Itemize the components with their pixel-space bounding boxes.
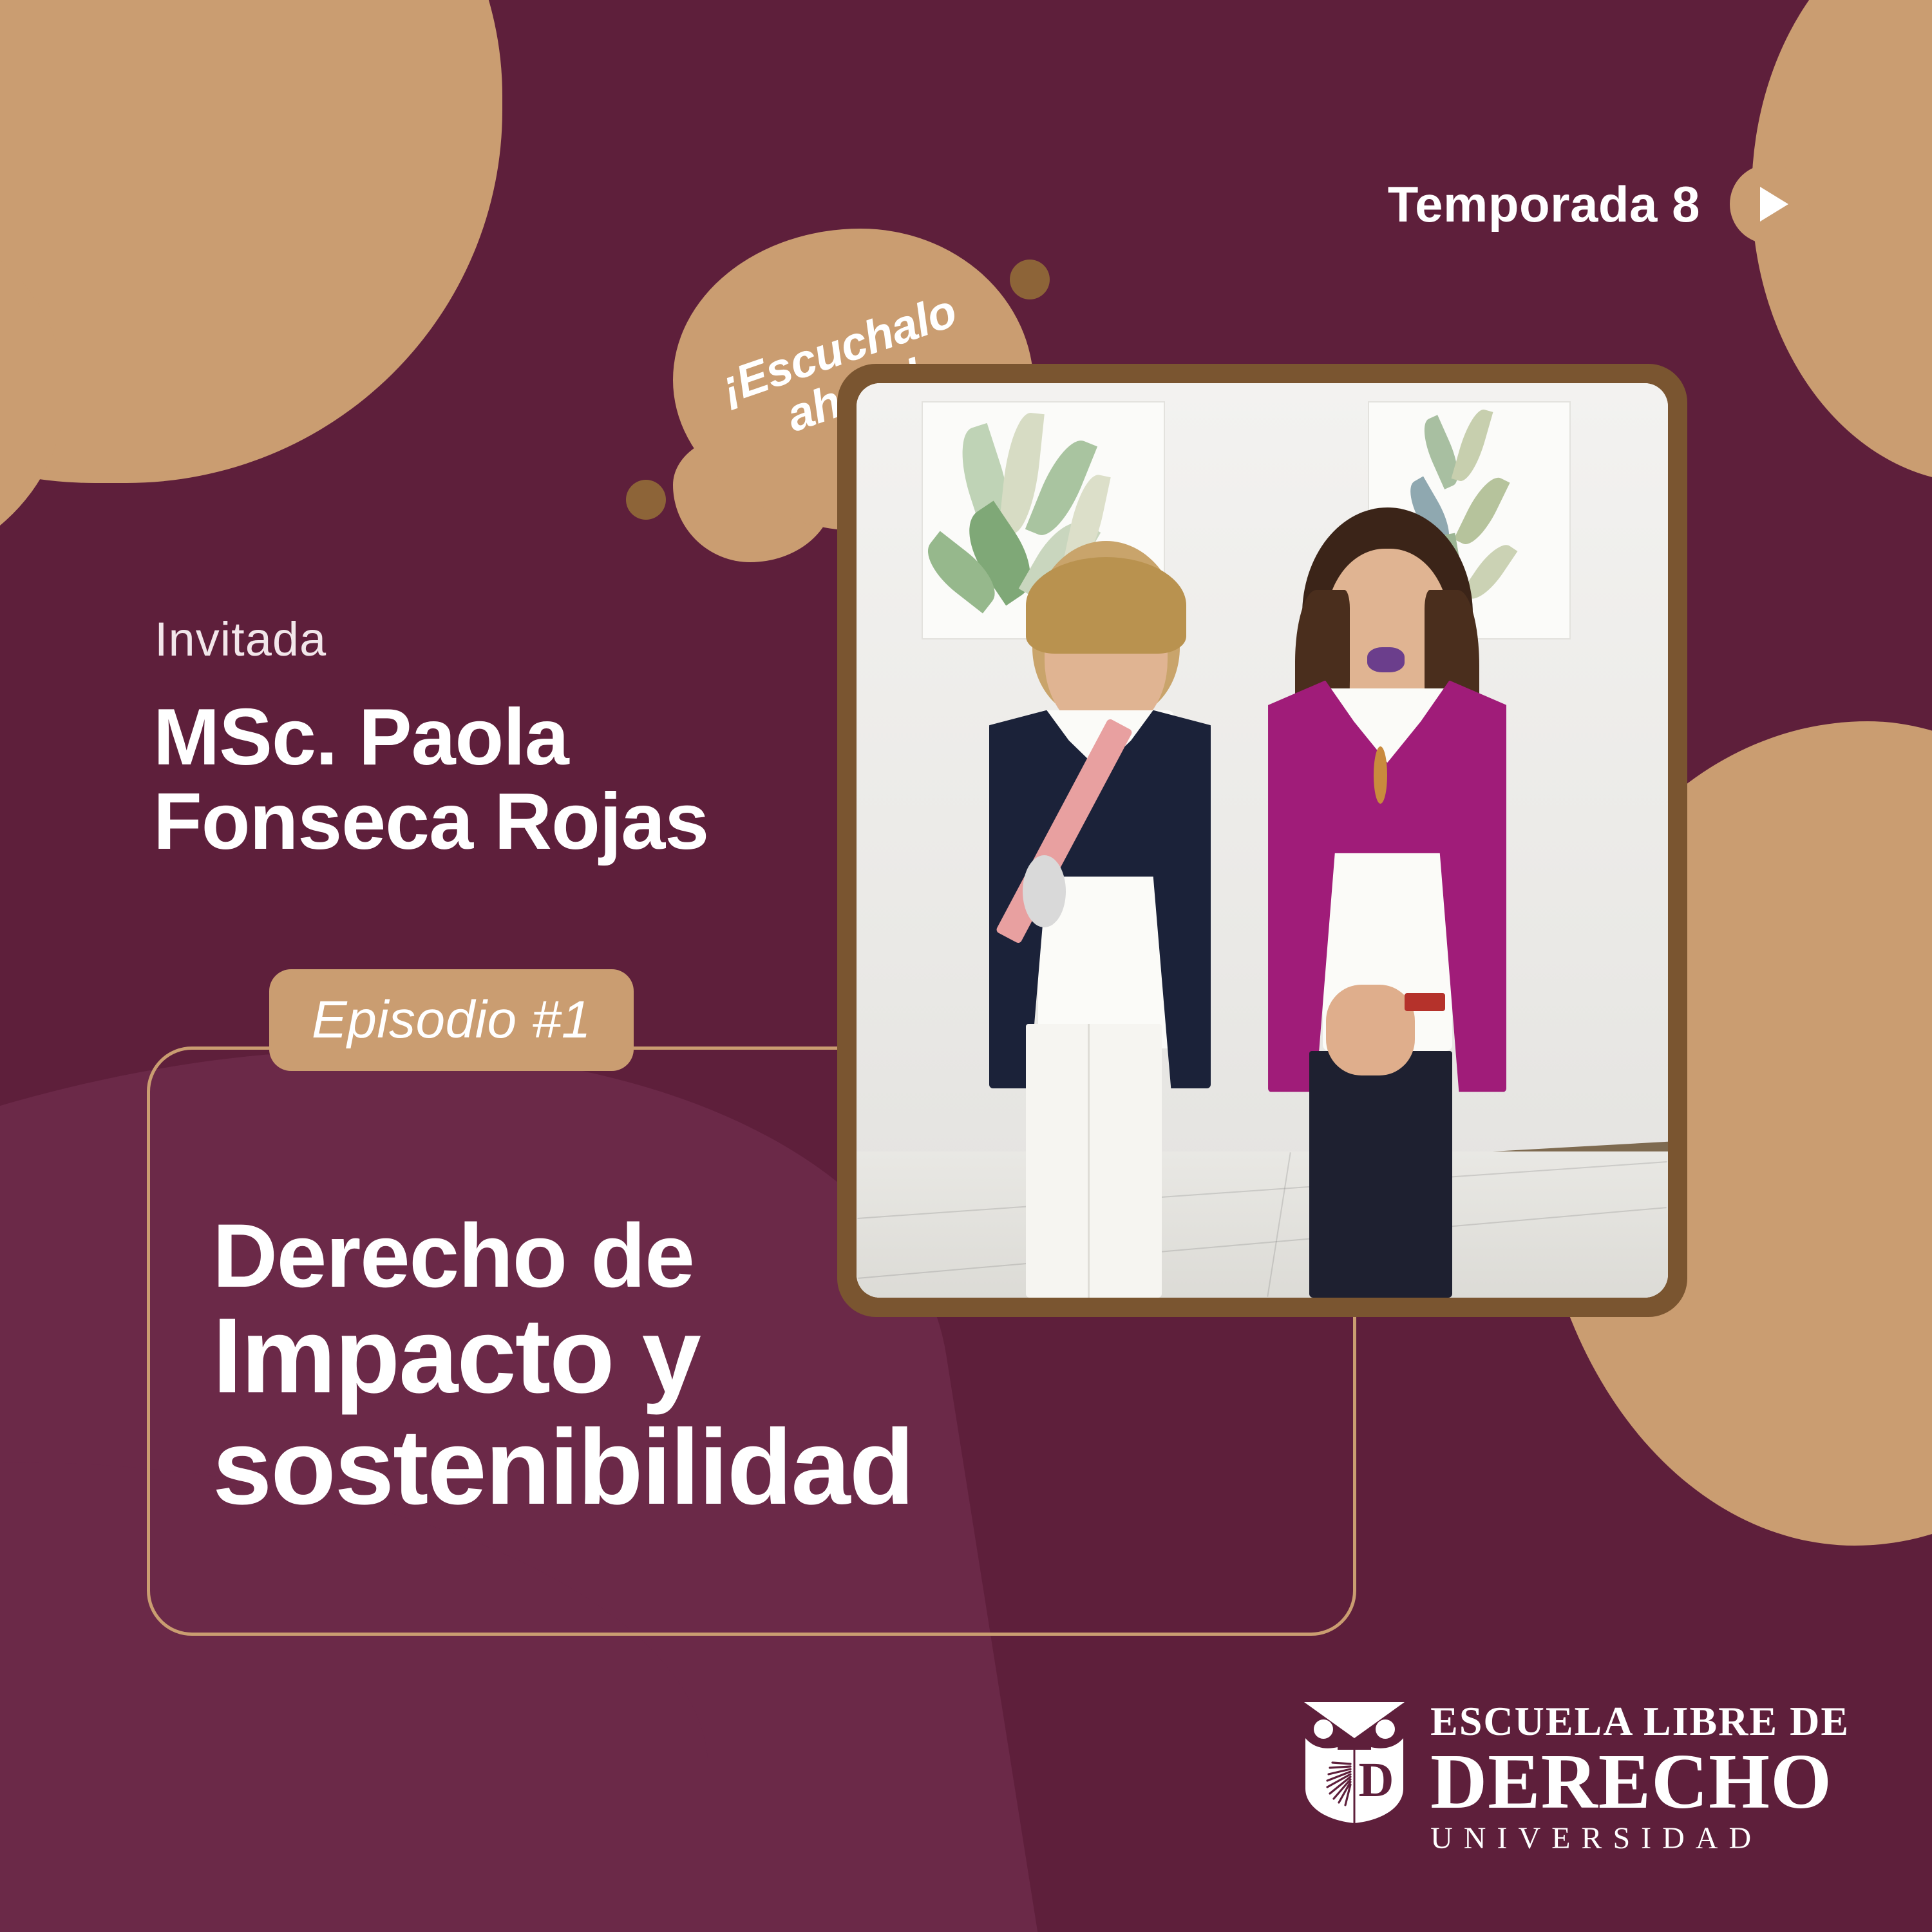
decorative-blob-top-left <box>0 0 502 483</box>
play-triangle-glyph <box>1760 187 1788 222</box>
bubble-dot-icon-2 <box>626 480 666 520</box>
bubble-dot-icon-1 <box>1010 260 1050 299</box>
episode-title: Derecho de Impacto y sostenibilidad <box>213 1211 1282 1523</box>
logo-wordmark: ESCUELA LIBRE DE DERECHO UNIVERSIDAD <box>1430 1698 1850 1856</box>
title-line-3: sostenibilidad <box>213 1412 1282 1524</box>
owl-shield-icon: D <box>1300 1698 1408 1824</box>
university-logo: D ESCUELA LIBRE DE DERECHO UNIVERSIDAD <box>1300 1698 1850 1856</box>
podcast-episode-poster: Temporada 8 ¡Escuchalo ahora! <box>0 0 1932 1932</box>
play-icon[interactable] <box>1730 164 1810 244</box>
person-right <box>1213 475 1554 1298</box>
guest-photo <box>857 383 1668 1298</box>
logo-line-2: DERECHO <box>1430 1742 1850 1822</box>
season-header: Temporada 8 <box>1388 164 1810 244</box>
guest-photo-frame <box>837 364 1687 1317</box>
season-label: Temporada 8 <box>1388 175 1700 234</box>
title-line-2: Impacto y <box>213 1301 1282 1412</box>
guest-name-line-1: MSc. Paola <box>153 696 708 780</box>
episode-badge: Episodio #1 <box>269 969 634 1071</box>
guest-name: MSc. Paola Fonseca Rojas <box>153 696 708 865</box>
svg-text:D: D <box>1359 1753 1394 1807</box>
guest-name-line-2: Fonseca Rojas <box>153 780 708 864</box>
title-line-1: Derecho de <box>213 1211 1282 1301</box>
logo-line-3: UNIVERSIDAD <box>1430 1822 1850 1856</box>
person-left <box>946 493 1255 1298</box>
logo-line-1: ESCUELA LIBRE DE <box>1430 1701 1850 1742</box>
guest-role-label: Invitada <box>155 612 327 667</box>
